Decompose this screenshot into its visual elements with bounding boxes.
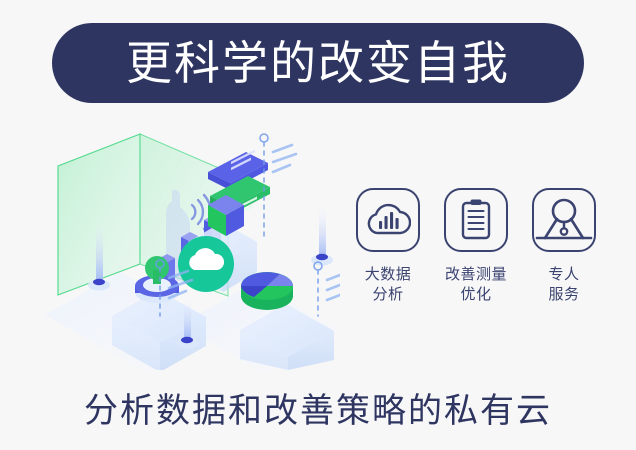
support-person-icon-box bbox=[532, 188, 596, 252]
page-title: 更科学的改变自我 bbox=[126, 40, 510, 86]
feature-item-dedicated-service[interactable]: 专人 服务 bbox=[528, 188, 600, 305]
cloud-bar-chart-icon-box bbox=[356, 188, 420, 252]
support-person-icon bbox=[535, 191, 593, 249]
clipboard-icon-box bbox=[444, 188, 508, 252]
clipboard-icon bbox=[455, 197, 497, 243]
feature-label: 改善测量 优化 bbox=[445, 265, 507, 305]
cloud-circle-icon bbox=[178, 236, 234, 292]
poster-canvas: 更科学的改变自我 bbox=[0, 0, 636, 450]
hero-illustration bbox=[40, 120, 340, 370]
feature-item-measure-optimize[interactable]: 改善测量 优化 bbox=[440, 188, 512, 305]
pie-chart-3d bbox=[241, 272, 293, 310]
feature-item-big-data[interactable]: 大数据 分析 bbox=[352, 188, 424, 305]
feature-label: 专人 服务 bbox=[548, 265, 579, 305]
feature-list: 大数据 分析 改善测量 优化 bbox=[352, 188, 600, 333]
title-banner: 更科学的改变自我 bbox=[52, 23, 584, 103]
footer-tagline: 分析数据和改善策略的私有云 bbox=[0, 383, 636, 432]
pin-marker-right bbox=[311, 205, 333, 266]
cloud-bar-chart-icon bbox=[365, 199, 411, 241]
feature-label: 大数据 分析 bbox=[365, 265, 412, 305]
